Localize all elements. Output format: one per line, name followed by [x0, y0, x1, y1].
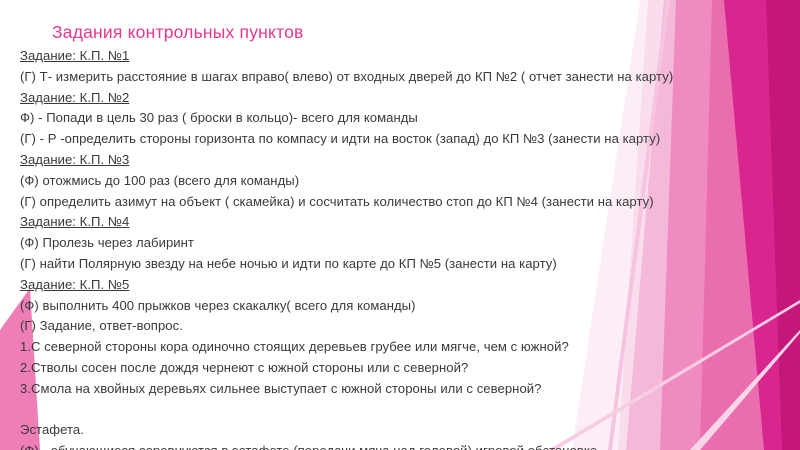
- task-line: (Ф) - обучающиеся соревнуются в эстафете…: [20, 441, 800, 450]
- task-heading: Задание: К.П. №1: [20, 46, 800, 67]
- task-heading: Задание: К.П. №2: [20, 88, 800, 109]
- spacer-line: [20, 400, 800, 421]
- task-line: Ф) - Попади в цель 30 раз ( броски в кол…: [20, 108, 800, 129]
- page-title: Задания контрольных пунктов: [52, 22, 304, 43]
- task-line: (Ф) выполнить 400 прыжков через скакалку…: [20, 296, 800, 317]
- task-line: 1.С северной стороны кора одиночно стоящ…: [20, 337, 800, 358]
- task-line: (Г) Т- измерить расстояние в шагах вправ…: [20, 67, 800, 88]
- task-line: (Г) определить азимут на объект ( скамей…: [20, 192, 800, 213]
- task-line: (Г) Задание, ответ-вопрос.: [20, 316, 800, 337]
- task-line: Эстафета.: [20, 420, 800, 441]
- task-line: 2.Стволы сосен после дождя чернеют с южн…: [20, 358, 800, 379]
- slide-canvas: Задания контрольных пунктов Задание: К.П…: [0, 0, 800, 450]
- body-text-block: Задание: К.П. №1(Г) Т- измерить расстоян…: [20, 46, 800, 450]
- task-heading: Задание: К.П. №4: [20, 212, 800, 233]
- task-line: (Г) - Р -определить стороны горизонта по…: [20, 129, 800, 150]
- task-line: 3.Смола на хвойных деревьях сильнее выст…: [20, 379, 800, 400]
- task-line: (Г) найти Полярную звезду на небе ночью …: [20, 254, 800, 275]
- task-line: (Ф) отожмись до 100 раз (всего для коман…: [20, 171, 800, 192]
- slide-content: Задания контрольных пунктов Задание: К.П…: [0, 0, 800, 450]
- task-line: (Ф) Пролезь через лабиринт: [20, 233, 800, 254]
- task-heading: Задание: К.П. №5: [20, 275, 800, 296]
- task-heading: Задание: К.П. №3: [20, 150, 800, 171]
